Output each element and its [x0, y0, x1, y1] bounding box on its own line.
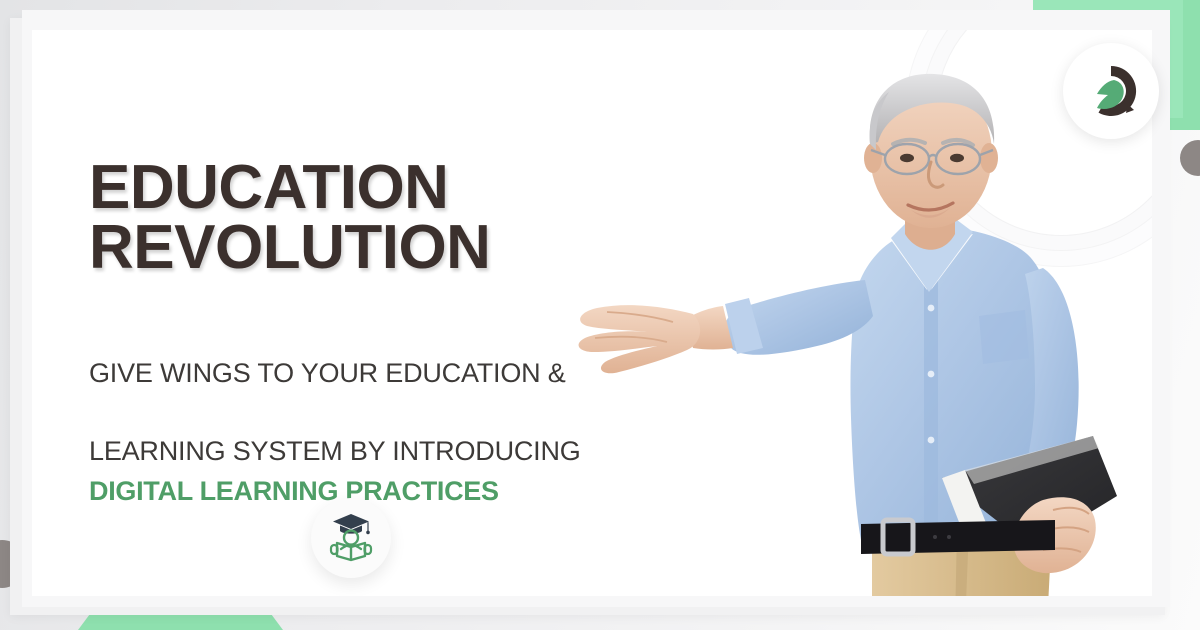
graduate-reading-book-icon [324, 509, 378, 568]
page-title: EDUCATION REVOLUTION [89, 158, 729, 278]
spartan-helmet-leaf-logo-icon [1083, 63, 1139, 119]
banner-copy: EDUCATION REVOLUTION GIVE WINGS TO YOUR … [89, 158, 729, 551]
subtitle-line-1: GIVE WINGS TO YOUR EDUCATION & [89, 358, 566, 388]
brand-logo-badge[interactable] [1063, 43, 1159, 139]
subtitle-accent-line: DIGITAL LEARNING PRACTICES [89, 472, 729, 511]
banner-subtitle: GIVE WINGS TO YOUR EDUCATION & LEARNING … [89, 314, 729, 550]
gray-dot-right [1180, 140, 1200, 176]
subtitle-line-2: LEARNING SYSTEM BY INTRODUCING [89, 436, 581, 466]
education-icon-badge [311, 498, 391, 578]
banner-card: EDUCATION REVOLUTION GIVE WINGS TO YOUR … [32, 30, 1152, 596]
